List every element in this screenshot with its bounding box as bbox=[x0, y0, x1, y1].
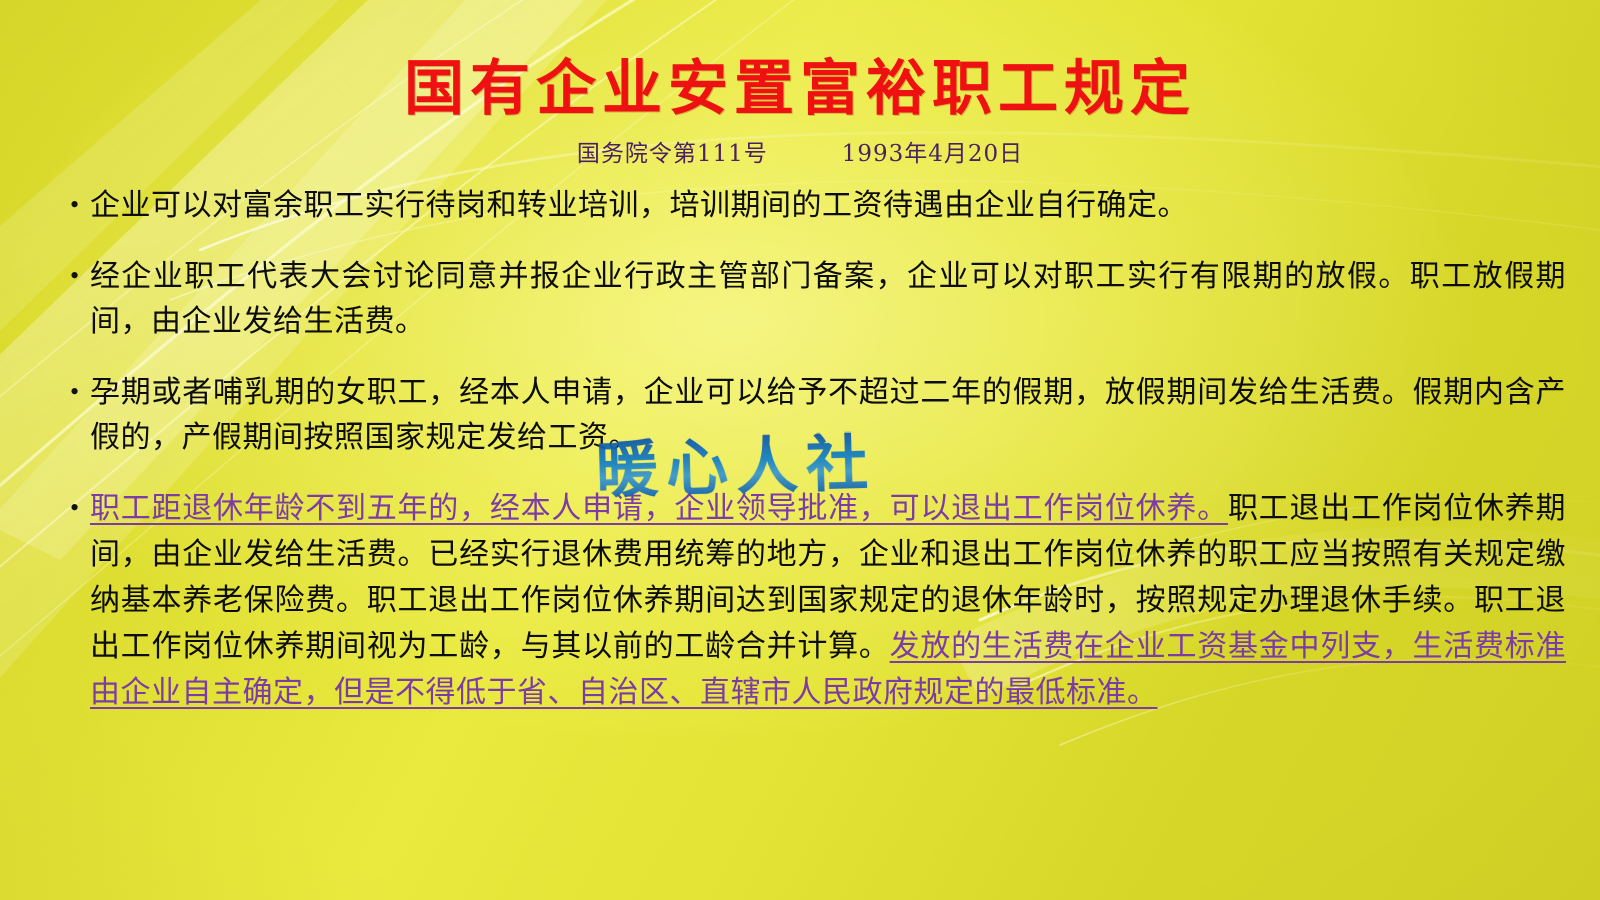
list-item: • 企业可以对富余职工实行待岗和转业培训，培训期间的工资待遇由企业自行确定。 bbox=[56, 183, 1566, 228]
title-block: 国有企业安置富裕职工规定 国务院令第111号 1993年4月20日 bbox=[0, 58, 1600, 168]
decree-number: 国务院令第111号 bbox=[577, 134, 768, 168]
bullet-dot-icon: • bbox=[56, 254, 90, 298]
bullet-text: 企业可以对富余职工实行待岗和转业培训，培训期间的工资待遇由企业自行确定。 bbox=[90, 183, 1566, 228]
text-segment: 企业可以对富余职工实行待岗和转业培训，培训期间的工资待遇由企业自行确定。 bbox=[90, 188, 1188, 223]
text-segment: 经企业职工代表大会讨论同意并报企业行政主管部门备案，企业可以对职工实行有限期的放… bbox=[90, 259, 1566, 339]
emphasized-text-segment: 职工距退休年龄不到五年的，经本人申请，企业领导批准，可以退出工作岗位休养。 bbox=[90, 491, 1228, 526]
bullet-text: 经企业职工代表大会讨论同意并报企业行政主管部门备案，企业可以对职工实行有限期的放… bbox=[90, 254, 1566, 344]
bullet-list: • 企业可以对富余职工实行待岗和转业培训，培训期间的工资待遇由企业自行确定。 •… bbox=[56, 183, 1566, 716]
decree-date: 1993年4月20日 bbox=[842, 134, 1023, 168]
text-segment: 孕期或者哺乳期的女职工，经本人申请，企业可以给予不超过二年的假期，放假期间发给生… bbox=[90, 375, 1566, 455]
bullet-dot-icon: • bbox=[56, 486, 90, 530]
list-item: • 经企业职工代表大会讨论同意并报企业行政主管部门备案，企业可以对职工实行有限期… bbox=[56, 254, 1566, 344]
bullet-dot-icon: • bbox=[56, 370, 90, 414]
list-item: • 孕期或者哺乳期的女职工，经本人申请，企业可以给予不超过二年的假期，放假期间发… bbox=[56, 370, 1566, 460]
slide-canvas: 国有企业安置富裕职工规定 国务院令第111号 1993年4月20日 • 企业可以… bbox=[0, 0, 1600, 900]
page-title: 国有企业安置富裕职工规定 bbox=[0, 58, 1600, 122]
subtitle-row: 国务院令第111号 1993年4月20日 bbox=[0, 134, 1600, 168]
list-item: • 职工距退休年龄不到五年的，经本人申请，企业领导批准，可以退出工作岗位休养。职… bbox=[56, 486, 1566, 716]
bullet-text: 职工距退休年龄不到五年的，经本人申请，企业领导批准，可以退出工作岗位休养。职工退… bbox=[90, 486, 1566, 716]
bullet-text: 孕期或者哺乳期的女职工，经本人申请，企业可以给予不超过二年的假期，放假期间发给生… bbox=[90, 370, 1566, 460]
bullet-dot-icon: • bbox=[56, 183, 90, 227]
